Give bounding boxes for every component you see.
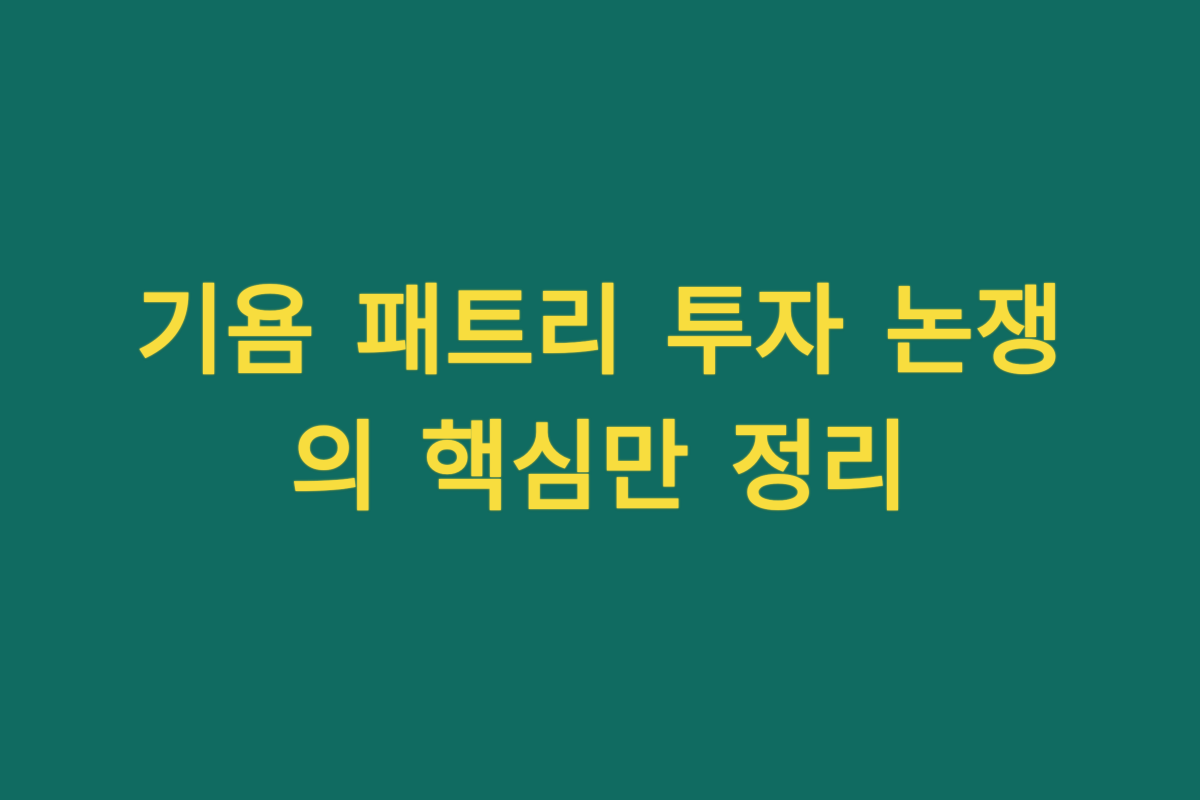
headline-container: 기욤 패트리 투자 논쟁의 핵심만 정리	[120, 264, 1080, 536]
title-card-banner: 기욤 패트리 투자 논쟁의 핵심만 정리	[0, 0, 1200, 800]
headline-text: 기욤 패트리 투자 논쟁의 핵심만 정리	[120, 264, 1080, 536]
